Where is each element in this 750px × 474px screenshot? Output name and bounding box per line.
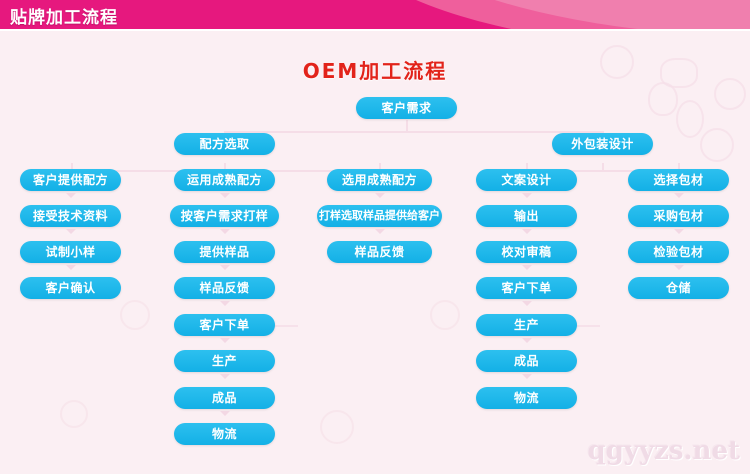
connector-chevron-icon — [674, 229, 684, 234]
node-col3-1[interactable]: 打样选取样品提供给客户 — [317, 205, 442, 227]
connector-chevron-icon — [220, 301, 230, 306]
node-col3-2[interactable]: 样品反馈 — [327, 241, 432, 263]
node-col2-7[interactable]: 物流 — [174, 423, 275, 445]
node-col1-0[interactable]: 客户提供配方 — [20, 169, 121, 191]
node-col5-3[interactable]: 仓储 — [628, 277, 729, 299]
decorative-circle-icon — [648, 82, 678, 116]
connector-chevron-icon — [220, 338, 230, 343]
decorative-circle-icon — [60, 400, 88, 428]
connector-chevron-icon — [375, 229, 385, 234]
connector-chevron-icon — [522, 374, 532, 379]
connector-chevron-icon — [522, 193, 532, 198]
decorative-circle-icon — [676, 100, 704, 138]
node-col3-0[interactable]: 选用成熟配方 — [327, 169, 432, 191]
node-col4-1[interactable]: 输出 — [476, 205, 577, 227]
node-col4-0[interactable]: 文案设计 — [476, 169, 577, 191]
connector-chevron-icon — [220, 374, 230, 379]
decorative-circle-icon — [120, 300, 150, 330]
page-title: OEM加工流程 — [0, 55, 750, 84]
connector-chevron-icon — [522, 229, 532, 234]
node-col5-1[interactable]: 采购包材 — [628, 205, 729, 227]
decorative-circle-icon — [320, 410, 354, 444]
node-col2-6[interactable]: 成品 — [174, 387, 275, 409]
connector-chevron-icon — [66, 229, 76, 234]
connector-chevron-icon — [375, 193, 385, 198]
node-branch-formula[interactable]: 配方选取 — [174, 133, 275, 155]
connector-chevron-icon — [522, 265, 532, 270]
connector-root-span — [224, 131, 604, 133]
connector-chevron-icon — [220, 411, 230, 416]
connector-chevron-icon — [66, 193, 76, 198]
connector-chevron-icon — [674, 193, 684, 198]
connector-chevron-icon — [220, 193, 230, 198]
decorative-circle-icon — [430, 300, 460, 330]
node-col1-3[interactable]: 客户确认 — [20, 277, 121, 299]
node-col1-1[interactable]: 接受技术资料 — [20, 205, 121, 227]
node-col4-5[interactable]: 成品 — [476, 350, 577, 372]
node-col4-6[interactable]: 物流 — [476, 387, 577, 409]
node-col2-0[interactable]: 运用成熟配方 — [174, 169, 275, 191]
banner-underline — [0, 29, 750, 31]
node-col2-1[interactable]: 按客户需求打样 — [170, 205, 279, 227]
connector-chevron-icon — [66, 265, 76, 270]
node-col1-2[interactable]: 试制小样 — [20, 241, 121, 263]
node-col2-2[interactable]: 提供样品 — [174, 241, 275, 263]
connector-chevron-icon — [220, 265, 230, 270]
flowchart-page: 贴牌加工流程 OEM加工流程 客户需求 配方选取 外包装设计 客户提供配方 接受… — [0, 0, 750, 474]
node-col5-0[interactable]: 选择包材 — [628, 169, 729, 191]
node-col4-2[interactable]: 校对审稿 — [476, 241, 577, 263]
page-header-banner: 贴牌加工流程 — [0, 0, 750, 29]
connector-chevron-icon — [674, 265, 684, 270]
node-col2-3[interactable]: 样品反馈 — [174, 277, 275, 299]
connector-chevron-icon — [522, 338, 532, 343]
node-root[interactable]: 客户需求 — [356, 97, 457, 119]
node-col2-4[interactable]: 客户下单 — [174, 314, 275, 336]
node-col2-5[interactable]: 生产 — [174, 350, 275, 372]
node-col5-2[interactable]: 检验包材 — [628, 241, 729, 263]
site-watermark: qgyyzs.net — [588, 436, 740, 466]
node-branch-packaging[interactable]: 外包装设计 — [552, 133, 653, 155]
connector-chevron-icon — [220, 229, 230, 234]
node-col4-4[interactable]: 生产 — [476, 314, 577, 336]
banner-title: 贴牌加工流程 — [10, 3, 118, 28]
decorative-circle-icon — [700, 128, 734, 162]
node-col4-3[interactable]: 客户下单 — [476, 277, 577, 299]
connector-chevron-icon — [522, 301, 532, 306]
